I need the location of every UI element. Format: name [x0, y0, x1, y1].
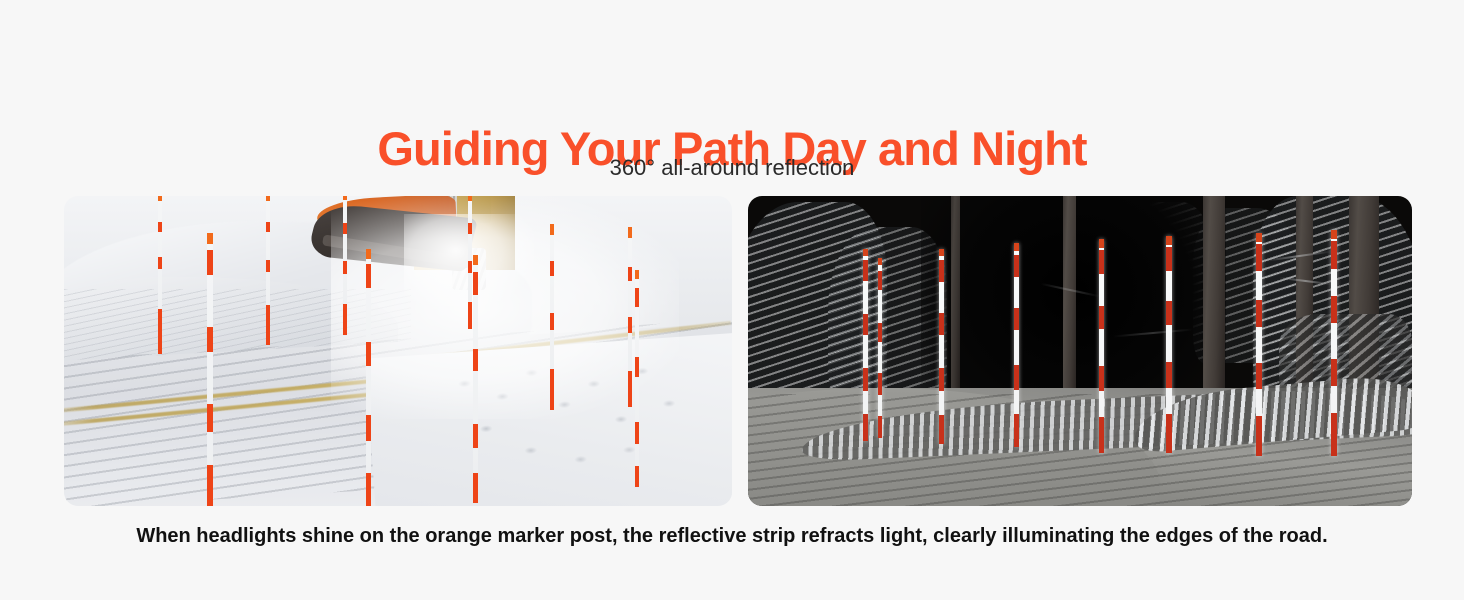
- reflective-marker-post: [550, 224, 553, 410]
- photo-panel-night: Night: [748, 196, 1412, 506]
- marker-post-reflective-band: [939, 415, 944, 444]
- page-subtitle: 360° all-around reflection: [0, 154, 1464, 182]
- marker-post-reflective-band: [1099, 417, 1104, 453]
- marker-post-reflective-band: [158, 309, 162, 354]
- marker-post-reflective-band: [1331, 413, 1338, 456]
- reflective-marker-post: [468, 196, 471, 329]
- marker-post-reflective-band: [473, 424, 478, 449]
- marker-post-reflective-band: [473, 349, 478, 371]
- marker-post-tip: [939, 249, 944, 257]
- reflective-marker-post: [628, 227, 631, 407]
- day-scene-image: [64, 196, 732, 506]
- marker-post-tip: [266, 196, 270, 201]
- marker-post-reflective-band: [878, 271, 882, 291]
- marker-post-reflective-band: [1099, 306, 1104, 330]
- reflective-marker-post: [863, 249, 868, 441]
- marker-post-tip: [1166, 236, 1172, 245]
- marker-post-tip: [366, 249, 371, 259]
- marker-post-reflective-band: [1256, 363, 1262, 390]
- marker-post-reflective-band: [635, 288, 639, 308]
- reflective-marker-post: [158, 196, 162, 354]
- marker-post-reflective-band: [207, 327, 213, 352]
- marker-post-reflective-band: [207, 465, 213, 506]
- reflective-marker-post: [635, 270, 639, 487]
- reflective-marker-post: [1331, 230, 1338, 456]
- marker-post-reflective-band: [468, 261, 471, 273]
- caption-text: When headlights shine on the orange mark…: [0, 522, 1464, 550]
- marker-post-reflective-band: [1099, 366, 1104, 392]
- marker-post-reflective-band: [366, 415, 371, 441]
- marker-post-reflective-band: [878, 373, 882, 395]
- marker-post-reflective-band: [635, 422, 639, 444]
- marker-post-tip: [207, 233, 213, 244]
- marker-post-reflective-band: [863, 368, 868, 391]
- marker-post-reflective-band: [1331, 296, 1338, 323]
- reflective-marker-post: [1014, 243, 1019, 448]
- marker-post-tip: [1331, 230, 1338, 239]
- marker-post-reflective-band: [1256, 300, 1262, 327]
- marker-post-reflective-band: [366, 264, 371, 287]
- reflective-marker-post: [473, 255, 478, 503]
- marker-post-reflective-band: [939, 313, 944, 334]
- marker-post-reflective-band: [158, 222, 162, 232]
- marker-post-tip: [1256, 233, 1262, 242]
- reflective-marker-post: [1256, 233, 1262, 456]
- marker-post-tip: [635, 270, 639, 279]
- marker-post-reflective-band: [207, 250, 213, 275]
- marker-post-reflective-band: [1014, 308, 1019, 331]
- marker-post-tip: [550, 224, 553, 235]
- marker-post-reflective-band: [1014, 365, 1019, 390]
- marker-post-reflective-band: [266, 222, 270, 233]
- marker-post-reflective-band: [863, 260, 868, 281]
- marker-post-reflective-band: [366, 473, 371, 506]
- marker-post-tip: [1014, 243, 1019, 251]
- marker-post-reflective-band: [939, 368, 944, 391]
- marker-post-tip: [1099, 239, 1104, 248]
- reflective-marker-post: [1099, 239, 1104, 453]
- marker-post-reflective-band: [628, 267, 631, 281]
- marker-post-reflective-band: [550, 313, 553, 330]
- marker-post-reflective-band: [266, 305, 270, 344]
- night-scene-image: [748, 196, 1412, 506]
- marker-post-reflective-band: [343, 223, 347, 234]
- reflective-marker-post: [939, 249, 944, 444]
- marker-post-reflective-band: [1331, 241, 1338, 268]
- reflective-marker-post: [1166, 236, 1172, 453]
- marker-post-reflective-band: [939, 260, 944, 281]
- marker-post-reflective-band: [468, 302, 471, 329]
- photo-panel-day: Day: [64, 196, 732, 506]
- marker-post-reflective-band: [343, 261, 347, 274]
- marker-post-reflective-band: [1166, 362, 1172, 388]
- marker-post-tip: [473, 255, 478, 265]
- marker-post-tip: [158, 196, 162, 201]
- marker-post-reflective-band: [628, 371, 631, 407]
- marker-post-reflective-band: [266, 260, 270, 272]
- marker-post-reflective-band: [207, 404, 213, 432]
- tree-trunk: [951, 196, 960, 407]
- marker-post-reflective-band: [1014, 414, 1019, 447]
- marker-post-reflective-band: [473, 473, 478, 503]
- marker-post-reflective-band: [878, 416, 882, 438]
- reflective-marker-post: [343, 196, 347, 336]
- marker-post-reflective-band: [468, 223, 471, 234]
- marker-post-tip: [628, 227, 631, 238]
- marker-post-reflective-band: [1099, 250, 1104, 274]
- marker-post-reflective-band: [550, 261, 553, 276]
- reflective-marker-post: [207, 233, 213, 506]
- marker-post-tip: [343, 196, 347, 200]
- marker-post-reflective-band: [1256, 244, 1262, 271]
- marker-post-reflective-band: [343, 304, 347, 335]
- marker-post-reflective-band: [158, 257, 162, 268]
- reflective-marker-post: [266, 196, 270, 345]
- marker-post-reflective-band: [1166, 414, 1172, 453]
- marker-post-reflective-band: [628, 317, 631, 333]
- marker-post-reflective-band: [878, 323, 882, 343]
- marker-post-tip: [468, 196, 471, 201]
- marker-post-reflective-band: [1331, 359, 1338, 386]
- marker-post-reflective-band: [1166, 247, 1172, 271]
- marker-post-reflective-band: [635, 357, 639, 377]
- marker-post-reflective-band: [473, 272, 478, 294]
- marker-post-reflective-band: [863, 414, 868, 441]
- marker-post-reflective-band: [1014, 255, 1019, 278]
- marker-post-reflective-band: [1166, 301, 1172, 325]
- marker-post-reflective-band: [366, 342, 371, 365]
- reflective-marker-post: [366, 249, 371, 506]
- reflective-marker-post: [878, 258, 882, 438]
- marker-post-reflective-band: [1256, 416, 1262, 456]
- marker-post-reflective-band: [863, 314, 868, 335]
- marker-post-reflective-band: [635, 466, 639, 488]
- marker-post-tip: [878, 258, 882, 265]
- day-snow-haze: [331, 196, 678, 419]
- marker-post-tip: [863, 249, 868, 257]
- promo-banner: Guiding Your Path Day and Night 360° all…: [0, 0, 1464, 600]
- marker-post-reflective-band: [550, 369, 553, 410]
